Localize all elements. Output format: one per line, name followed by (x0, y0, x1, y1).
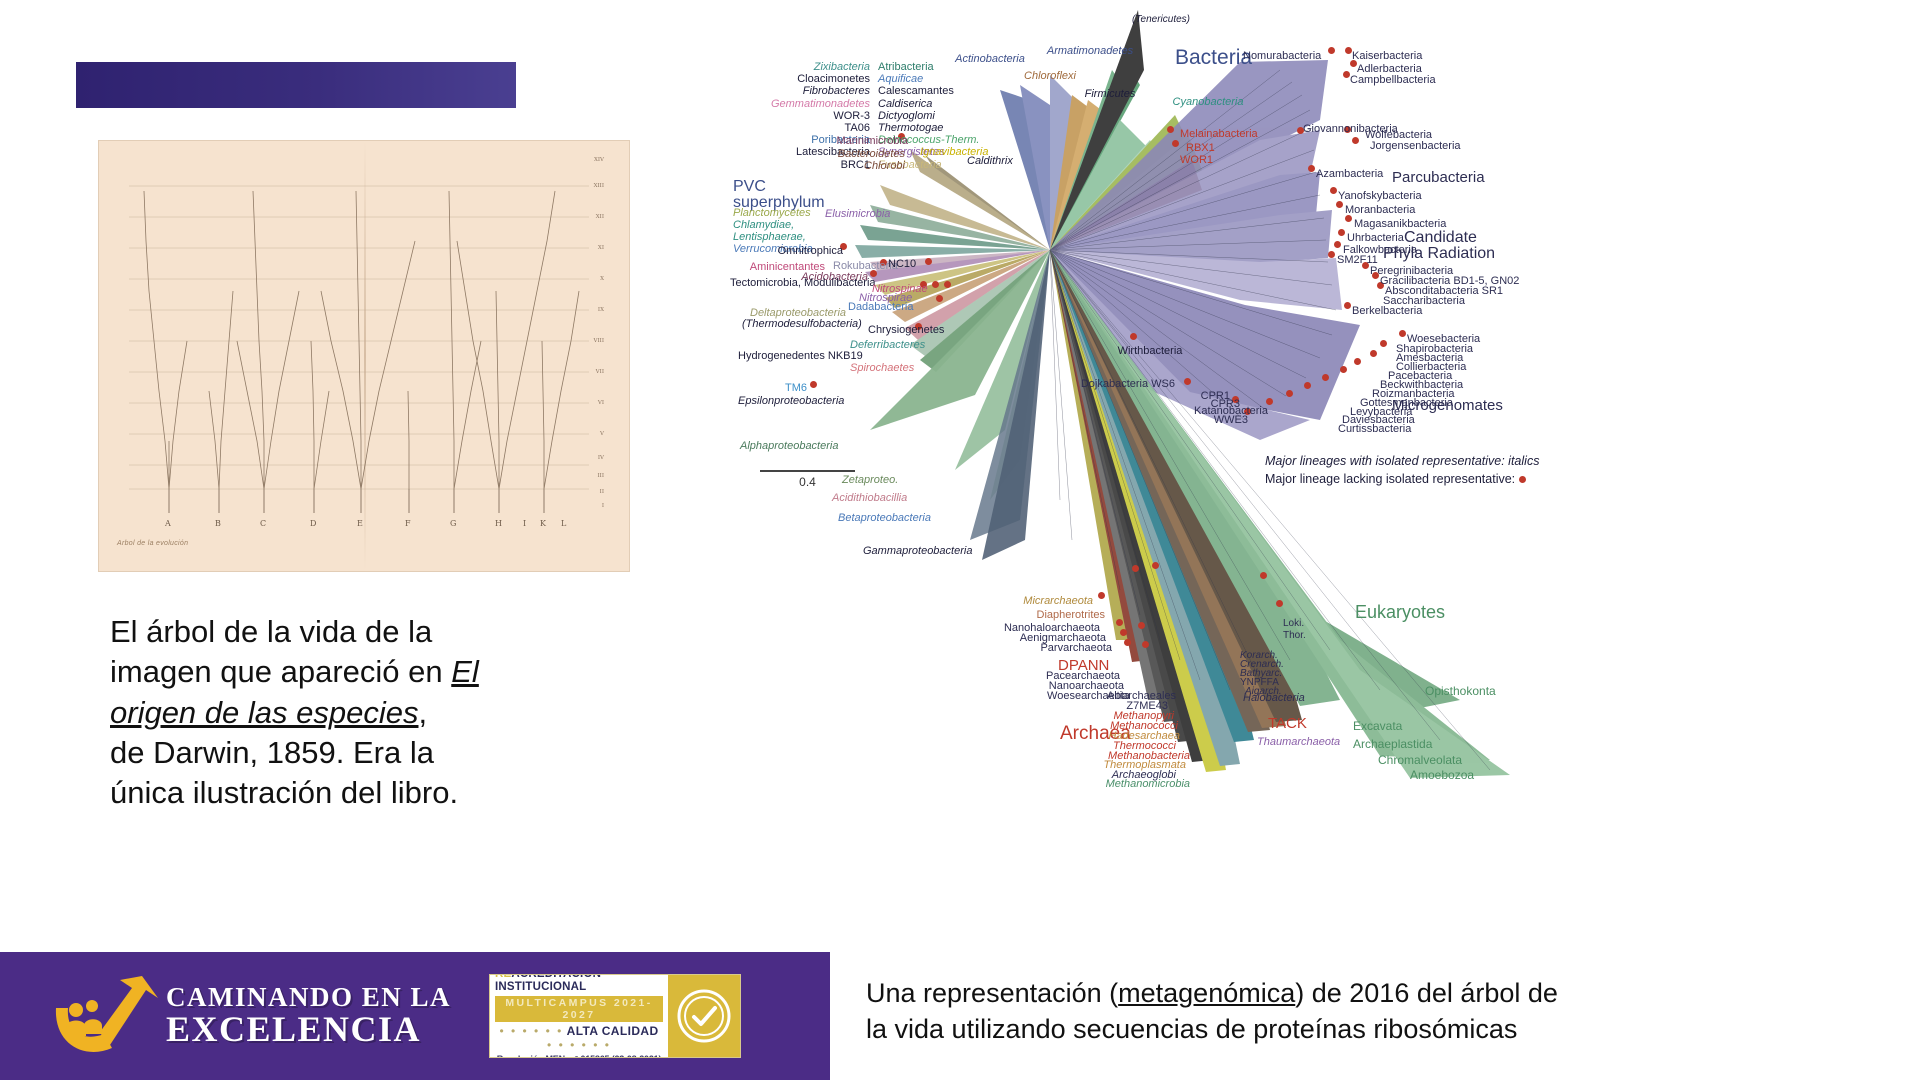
tree-label: Omnitrophica (778, 245, 843, 257)
tree-label: Dadabacteria (848, 301, 913, 313)
svg-text:C: C (260, 519, 267, 528)
darwin-tree-image: ABC DEF GHI KL XIVXIIIXII XIXIX VIIIVIIV… (98, 140, 630, 572)
tree-label: Chrysiogenetes (868, 324, 944, 336)
caption-line-2: la vida utilizando secuencias de proteín… (866, 1014, 1517, 1044)
tree-label: Gammaproteobacteria (863, 545, 972, 557)
tree-label: Loki. (1283, 618, 1304, 629)
tree-label: Amoebozoa (1410, 768, 1474, 782)
lineage-dot (1336, 201, 1343, 208)
scale-bar: 0.4 (760, 470, 855, 489)
lineage-dot (1345, 215, 1352, 222)
svg-text:A: A (164, 519, 172, 528)
tree-label: Micrarchaeota (1023, 595, 1093, 607)
tree-label: Chlamydiae, (733, 219, 794, 231)
tree-label: Alphaproteobacteria (740, 440, 838, 452)
tree-label: RBX1 (1186, 142, 1215, 154)
logo-wordmark: CAMINANDO EN LA EXCELENCIA (166, 984, 451, 1048)
svg-text:VIII: VIII (593, 338, 605, 344)
tree-label: (Tenericutes) (1132, 14, 1190, 25)
tree-label: Campbellbacteria (1350, 74, 1436, 86)
scale-bar-line (760, 470, 855, 472)
tree-label: (Thermodesulfobacteria) (742, 318, 862, 330)
tree-label: Aquificae (878, 73, 923, 85)
tree-label: Wirthbacteria (1118, 345, 1183, 357)
title-comma: , (418, 695, 427, 730)
tree-label: NC10 (888, 258, 916, 270)
lineage-dot (1328, 251, 1335, 258)
tree-label: Nomurabacteria (1243, 50, 1321, 62)
tree-label: Thor. (1283, 630, 1306, 641)
left-body-text: El árbol de la vida de la imagen que apa… (110, 612, 580, 813)
tree-label: TM6 (785, 382, 807, 394)
tree-label: Aigarch. (1245, 686, 1282, 697)
tree-group-label: Bacteria (1175, 46, 1252, 70)
lineage-dot (1167, 126, 1174, 133)
tree-label: Archaeplastida (1353, 737, 1432, 751)
lineage-dot (1345, 47, 1352, 54)
svg-text:V: V (599, 431, 605, 437)
svg-text:L: L (561, 519, 567, 528)
svg-text:IV: IV (598, 455, 605, 461)
badge-line-2: MULTICAMPUS 2021-2027 (495, 996, 663, 1022)
tree-label: Curtissbacteria (1338, 423, 1411, 435)
badge-resolution: Resolución MEN n.° 015865 (23-08-2021) (495, 1054, 663, 1058)
tree-label: Excavata (1353, 719, 1402, 733)
lineage-dot (1354, 358, 1361, 365)
tree-label: Yanofskybacteria (1338, 190, 1422, 202)
svg-text:B: B (215, 519, 222, 528)
tree-label: Zixibacteria (814, 61, 870, 73)
caption-part-2: ) de 2016 del árbol de (1295, 978, 1558, 1008)
lineage-dot (1142, 641, 1149, 648)
swoosh-people-icon (46, 970, 158, 1062)
institution-logo: CAMINANDO EN LA EXCELENCIA (46, 970, 451, 1062)
figure-legend: Major lineages with isolated representat… (1265, 452, 1539, 488)
lineage-dot (1343, 71, 1350, 78)
darwin-tree-drawing: ABC DEF GHI KL XIVXIIIXII XIXIX VIIIVIIV… (99, 141, 629, 571)
left-line-5: única ilustración del libro. (110, 775, 458, 810)
tree-label: Thaumarchaeota (1257, 736, 1340, 748)
tree-group-label: Parcubacteria (1392, 169, 1485, 186)
tree-label: Epsilonproteobacteria (738, 395, 844, 407)
legend-line-2-text: Major lineage lacking isolated represent… (1265, 472, 1515, 486)
lineage-dot (1330, 187, 1337, 194)
lineage-dot (1304, 382, 1311, 389)
tree-label: Armatimonadetes (1047, 45, 1133, 57)
caption-metagenomica-link[interactable]: metagenómica (1118, 978, 1295, 1008)
check-seal-icon (668, 975, 740, 1057)
lineage-dot (1120, 629, 1127, 636)
badge-re-prefix: RE (495, 974, 511, 980)
tree-label: Elusimicrobia (825, 208, 890, 220)
left-line-4: de Darwin, 1859. Era la (110, 735, 434, 770)
accreditation-badge: REACREDITACIÓN INSTITUCIONAL MULTICAMPUS… (489, 974, 741, 1058)
svg-text:III: III (597, 473, 604, 479)
tree-label: Spirochaetes (850, 362, 914, 374)
lineage-dot (1344, 302, 1351, 309)
tree-label: Cloacimonetes (797, 73, 870, 85)
footer-banner: CAMINANDO EN LA EXCELENCIA REACREDITACIÓ… (0, 952, 830, 1080)
tree-label: WOR1 (1180, 154, 1213, 166)
lineage-dot (1328, 47, 1335, 54)
tree-label: Actinobacteria (955, 53, 1025, 65)
logo-line-2: EXCELENCIA (166, 1011, 451, 1048)
tree-group-label: Eukaryotes (1355, 602, 1445, 623)
lineage-dot (1276, 600, 1283, 607)
lineage-dot (1172, 140, 1179, 147)
tree-label: Diapherotrites (1037, 609, 1105, 621)
tree-label: Moranbacteria (1345, 204, 1415, 216)
svg-text:IX: IX (598, 307, 604, 313)
lineage-dot (932, 281, 939, 288)
tree-label: Hydrogenedentes NKB19 (738, 350, 863, 362)
darwin-figure-caption: Arbol de la evolución (117, 540, 188, 547)
tree-label: Fibrobacteres (803, 85, 870, 97)
lineage-dot (944, 281, 951, 288)
lineage-dot (1334, 241, 1341, 248)
tree-label: Lentisphaerae, (733, 231, 806, 243)
tree-label: Betaproteobacteria (838, 512, 931, 524)
badge-dots-left: • • • • • • (499, 1024, 563, 1038)
legend-line-1: Major lineages with isolated representat… (1265, 452, 1539, 470)
right-caption-text: Una representación (metagenómica) de 201… (866, 975, 1886, 1047)
legend-line-2: Major lineage lacking isolated represent… (1265, 470, 1539, 488)
lineage-dot (1098, 592, 1105, 599)
svg-text:E: E (357, 519, 364, 528)
scale-bar-value: 0.4 (760, 475, 855, 489)
tree-label: Bacteroidetes (838, 148, 905, 160)
svg-text:I: I (602, 503, 604, 509)
caption-part-1: Una representación ( (866, 978, 1118, 1008)
tree-label: Acidithiobacillia (832, 492, 907, 504)
tree-label: Gemmatimonadetes (771, 98, 870, 110)
svg-text:K: K (540, 519, 547, 528)
svg-text:XIV: XIV (594, 157, 605, 163)
tree-of-life-figure: 0.4 Major lineages with isolated represe… (720, 0, 1920, 960)
svg-text:F: F (405, 519, 412, 528)
svg-text:G: G (450, 519, 457, 528)
lineage-dot (1338, 229, 1345, 236)
badge-text-block: REACREDITACIÓN INSTITUCIONAL MULTICAMPUS… (490, 975, 668, 1057)
lineage-dot (1286, 390, 1293, 397)
lineage-dot (1116, 619, 1123, 626)
svg-text:XII: XII (596, 214, 604, 220)
tree-label: Parvarchaeota (1040, 642, 1112, 654)
book-title-part1: El (451, 654, 479, 689)
lineage-dot (810, 381, 817, 388)
lineage-dot (1370, 350, 1377, 357)
badge-line-1: REACREDITACIÓN INSTITUCIONAL (495, 974, 663, 994)
lineage-dot (1352, 137, 1359, 144)
svg-text:II: II (600, 489, 604, 495)
svg-text:VI: VI (597, 400, 604, 406)
lineage-dot (1184, 378, 1191, 385)
tree-label: Methanomicrobia (1106, 778, 1190, 790)
tree-label: TA06 (845, 122, 870, 134)
lineage-dot (1152, 562, 1159, 569)
tree-label: Calescamantes (878, 85, 954, 97)
badge-dots-right: • • • • • • (547, 1038, 611, 1052)
tree-label: WWE3 (1214, 414, 1248, 426)
badge-line-3: • • • • • • ALTA CALIDAD • • • • • • (495, 1024, 663, 1052)
lineage-dot (925, 258, 932, 265)
left-line-1: El árbol de la vida de la (110, 614, 432, 649)
svg-text:X: X (600, 276, 604, 282)
tree-label: Tectomicrobia, Modulibacteria (730, 277, 876, 289)
tree-label: Chromalveolata (1378, 753, 1462, 767)
lineage-dot (1399, 330, 1406, 337)
svg-text:H: H (495, 519, 503, 528)
lineage-dot (1380, 340, 1387, 347)
tree-group-label: TACK (1268, 715, 1307, 732)
tree-label: Magasanikbacteria (1354, 218, 1446, 230)
slide-root: ABC DEF GHI KL XIVXIIIXII XIXIX VIIIVIIV… (0, 0, 1920, 1080)
tree-label: Dictyoglomi (878, 110, 935, 122)
tree-label: Marinimicrobia (836, 135, 908, 147)
tree-label: Chlorobi (864, 160, 905, 172)
lineage-dot (1130, 333, 1137, 340)
logo-line-1: CAMINANDO EN LA (166, 984, 451, 1012)
tree-label: WOR-3 (833, 110, 870, 122)
lineage-dot (1138, 622, 1145, 629)
lineage-dot (1260, 572, 1267, 579)
lineage-dot (1266, 398, 1273, 405)
lineage-dot (1322, 374, 1329, 381)
tree-label: Thermotogae (878, 122, 943, 134)
tree-label: Melainabacteria (1180, 128, 1258, 140)
lineage-dot (1340, 366, 1347, 373)
lineage-dot (936, 295, 943, 302)
badge-line-1-text: ACREDITACIÓN INSTITUCIONAL (495, 974, 601, 993)
svg-text:XIII: XIII (594, 183, 604, 189)
tree-label: Berkelbacteria (1352, 305, 1422, 317)
lineage-dot (1124, 639, 1131, 646)
tree-label: Atribacteria (878, 61, 934, 73)
tree-label: Chloroflexi (1024, 70, 1076, 82)
tree-label: Opisthokonta (1425, 684, 1496, 698)
tree-label: Dojkabacteria WS6 (1081, 378, 1175, 390)
left-line-2: imagen que apareció en (110, 654, 451, 689)
lineage-dot (1132, 565, 1139, 572)
svg-text:D: D (310, 519, 317, 528)
tree-label: Azambacteria (1316, 168, 1383, 180)
tree-label: Caldithrix (967, 155, 1013, 167)
tree-label: Kaiserbacteria (1352, 50, 1422, 62)
tree-label: Uhrbacteria (1347, 232, 1404, 244)
tree-label: Caldiserica (878, 98, 932, 110)
lineage-dot (1308, 165, 1315, 172)
tree-label: Jorgensenbacteria (1370, 140, 1461, 152)
badge-alta-calidad: ALTA CALIDAD (567, 1024, 659, 1038)
title-accent-bar (76, 62, 516, 108)
tree-label: Cyanobacteria (1173, 96, 1244, 108)
tree-label: Planctomycetes (733, 207, 811, 219)
book-title-part2: origen de las especies (110, 695, 418, 730)
tree-label: Zetaproteo. (842, 474, 898, 486)
legend-dot-icon (1519, 476, 1526, 483)
tree-label: Firmicutes (1085, 88, 1136, 100)
svg-text:XI: XI (598, 245, 604, 251)
svg-text:VII: VII (595, 369, 604, 375)
svg-text:I: I (523, 519, 527, 528)
